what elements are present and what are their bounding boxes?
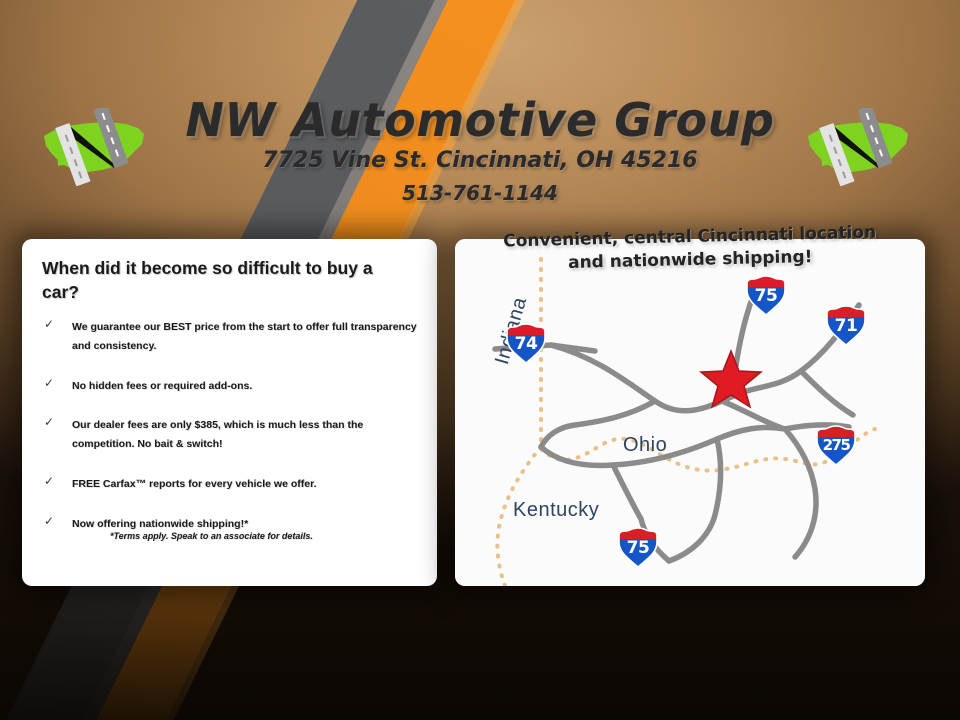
interstate-number: 71: [825, 316, 867, 336]
list-item: ✓ FREE Carfax™ reports for every vehicle…: [42, 474, 422, 493]
list-item-label: No hidden fees or required add-ons.: [72, 380, 252, 392]
interstate-number: 275: [815, 436, 857, 454]
value-proposition-card: When did it become so difficult to buy a…: [22, 239, 437, 586]
benefits-list: ✓ We guarantee our BEST price from the s…: [42, 317, 422, 553]
interstate-number: 75: [617, 538, 659, 558]
interstate-number: 75: [745, 286, 787, 306]
list-item-label: We guarantee our BEST price from the sta…: [72, 321, 417, 352]
terms-footnote: *Terms apply. Speak to an associate for …: [110, 531, 410, 541]
list-item-label: FREE Carfax™ reports for every vehicle w…: [72, 478, 317, 490]
list-item: ✓ We guarantee our BEST price from the s…: [42, 317, 422, 355]
interstate-shield-75-south: 75: [617, 523, 659, 567]
slide-canvas: NW Automotive Group 7725 Vine St. Cincin…: [0, 0, 960, 720]
nw-automotive-logo-left: [38, 108, 150, 186]
interstate-shield-275: 275: [815, 421, 857, 465]
location-map-card: Indiana Ohio Kentucky 74 75: [455, 239, 925, 586]
list-item: ✓ Now offering nationwide shipping!*: [42, 514, 422, 533]
state-label-ohio: Ohio: [623, 434, 667, 457]
logo-icon: [38, 108, 150, 186]
check-icon: ✓: [44, 474, 54, 488]
page-title: When did it become so difficult to buy a…: [42, 257, 412, 304]
list-item: ✓ Our dealer fees are only $385, which i…: [42, 415, 422, 453]
check-icon: ✓: [44, 415, 54, 429]
interstate-shield-75-north: 75: [745, 271, 787, 315]
check-icon: ✓: [44, 514, 54, 528]
check-icon: ✓: [44, 376, 54, 390]
logo-icon: [802, 108, 914, 186]
list-item: ✓ No hidden fees or required add-ons.: [42, 376, 422, 395]
interstate-shield-71: 71: [825, 301, 867, 345]
state-label-kentucky: Kentucky: [513, 499, 599, 522]
list-item-label: Now offering nationwide shipping!*: [72, 518, 248, 530]
interstate-number: 74: [505, 334, 547, 354]
check-icon: ✓: [44, 317, 54, 331]
regional-map: [455, 239, 925, 586]
list-item-label: Our dealer fees are only $385, which is …: [72, 419, 363, 450]
interstate-shield-74: 74: [505, 319, 547, 363]
nw-automotive-logo-right: [802, 108, 914, 186]
